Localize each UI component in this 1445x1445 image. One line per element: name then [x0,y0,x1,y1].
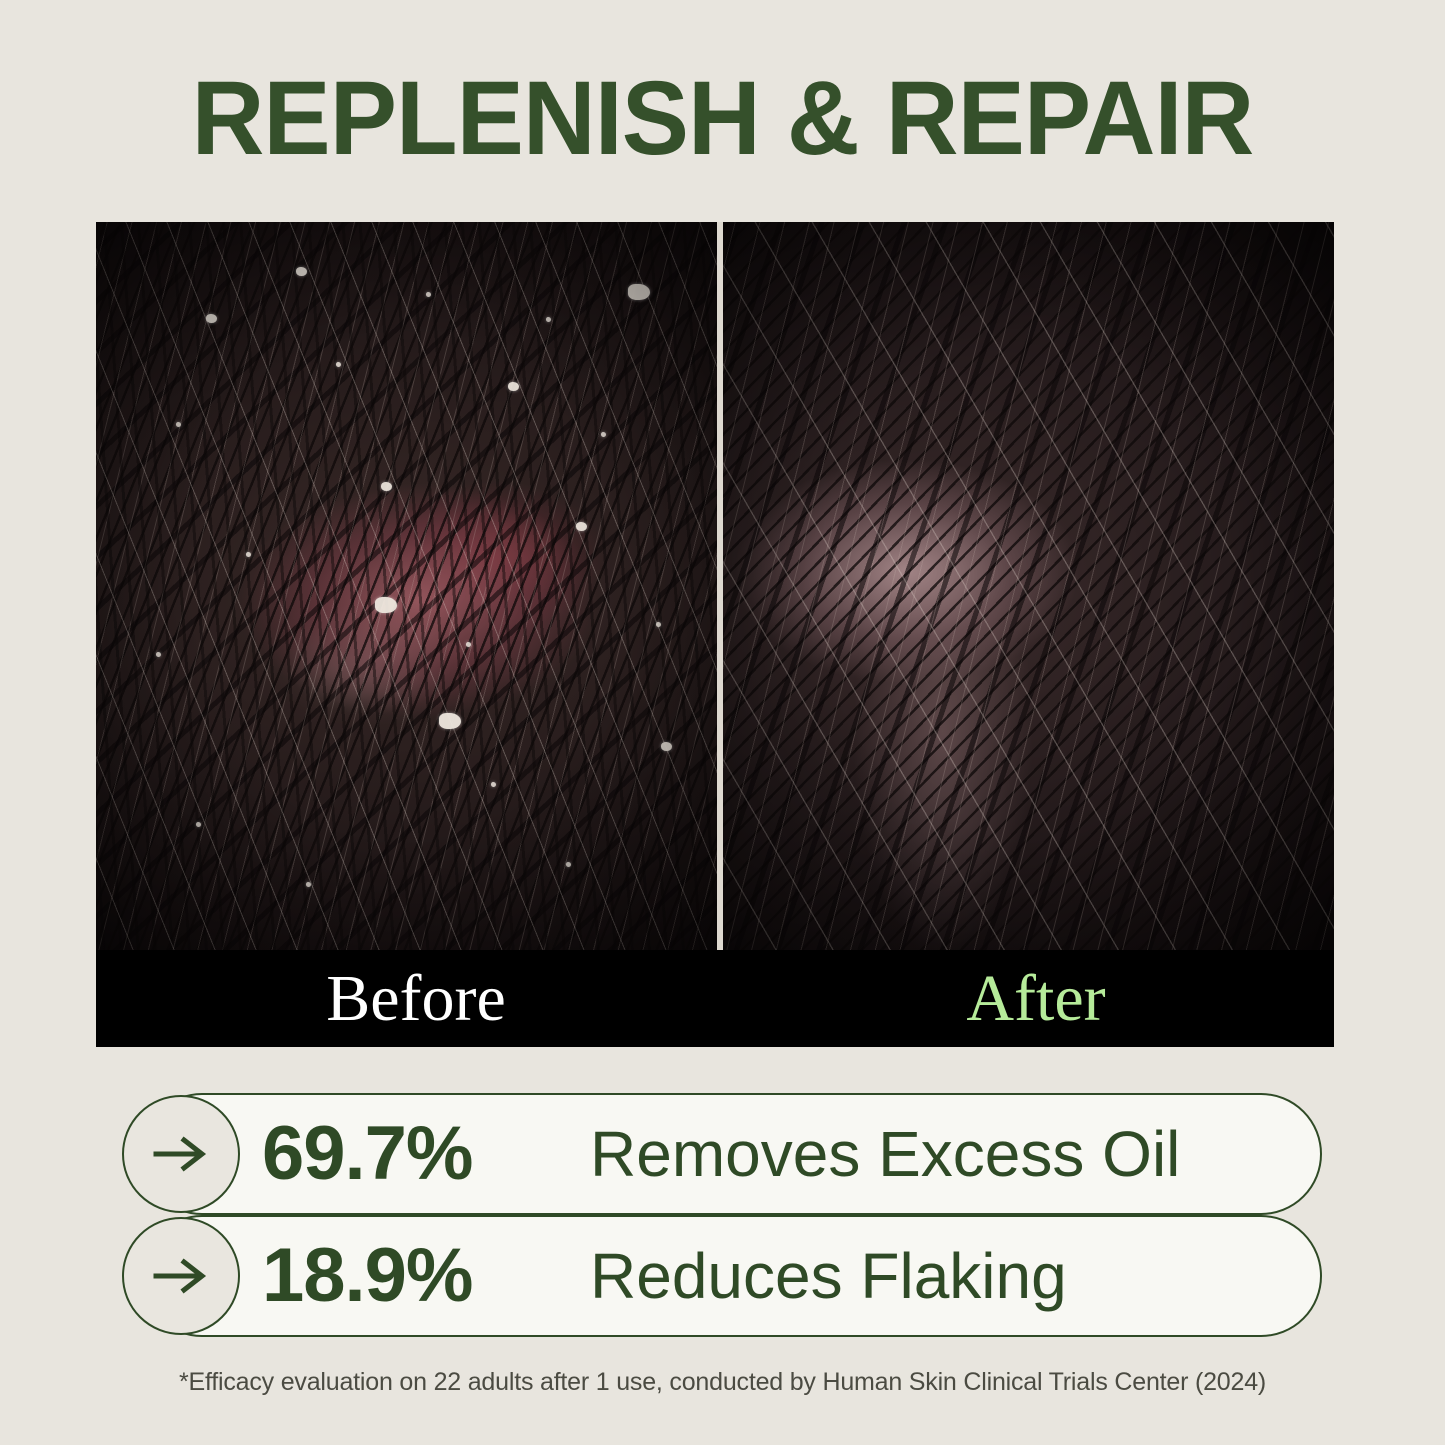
caption-bar: Before After [96,950,1334,1047]
stat-value: 18.9% [262,1215,562,1337]
footnote: *Efficacy evaluation on 22 adults after … [0,1368,1445,1397]
after-caption: After [856,950,1216,1047]
stat-label: Removes Excess Oil [590,1093,1290,1215]
promo-page: REPLENISH & REPAIR [0,0,1445,1445]
stat-label: Reduces Flaking [590,1215,1290,1337]
arrow-right-icon [122,1217,240,1335]
stat-value: 69.7% [262,1093,562,1215]
photo-vignette [96,222,717,950]
after-photo [723,222,1334,950]
before-after-divider [717,222,723,950]
before-photo [96,222,717,950]
before-caption: Before [216,950,616,1047]
page-title: REPLENISH & REPAIR [29,66,1416,171]
arrow-right-icon [122,1095,240,1213]
before-after-comparison: Before After [96,222,1334,1047]
photo-vignette [723,222,1334,950]
